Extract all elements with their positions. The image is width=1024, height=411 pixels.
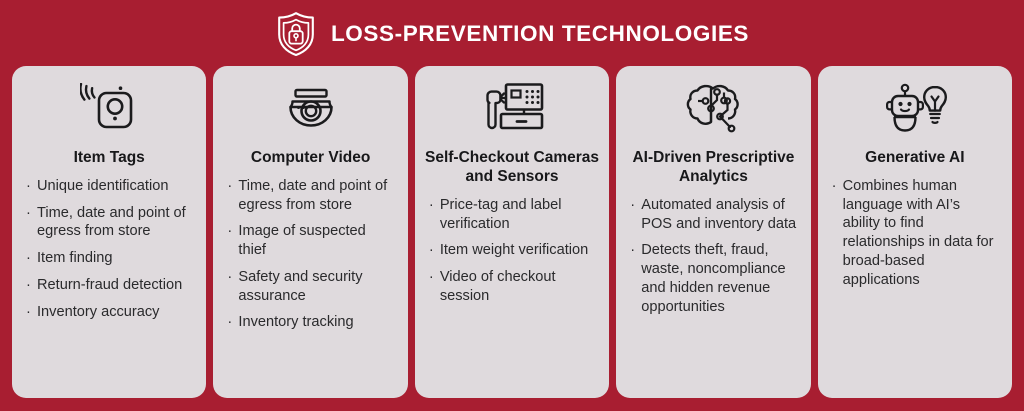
- card-self-checkout[interactable]: Self-Checkout Cameras and Sensors ·Price…: [415, 66, 609, 398]
- infographic-root: LOSS-PREVENTION TECHNOLOGIES Item Tags ·…: [0, 0, 1024, 411]
- bullet-list: ·Price-tag and label verification ·Item …: [425, 196, 599, 386]
- list-item: ·Return-fraud detection: [26, 276, 194, 295]
- rfid-tag-icon: [80, 83, 138, 135]
- bullet-marker: ·: [630, 196, 635, 215]
- bullet-marker: ·: [26, 177, 31, 196]
- list-item-text: Inventory accuracy: [37, 304, 159, 320]
- bullet-marker: ·: [227, 177, 232, 196]
- list-item: ·Inventory tracking: [227, 313, 395, 332]
- list-item-text: Item weight verification: [440, 242, 588, 258]
- dome-camera-icon: [282, 85, 340, 133]
- card-ai-prescriptive-analytics[interactable]: AI-Driven Prescriptive Analytics ·Automa…: [616, 66, 810, 398]
- card-item-tags[interactable]: Item Tags ·Unique identification ·Time, …: [12, 66, 206, 398]
- list-item: ·Image of suspected thief: [227, 222, 395, 260]
- bullet-marker: ·: [227, 268, 232, 287]
- list-item: ·Inventory accuracy: [26, 303, 194, 322]
- card-title: Generative AI: [828, 149, 1002, 168]
- list-item-text: Inventory tracking: [238, 314, 353, 330]
- list-item: ·Item weight verification: [429, 241, 597, 260]
- list-item: ·Safety and security assurance: [227, 268, 395, 306]
- card-icon-wrap: [626, 76, 800, 142]
- bullet-marker: ·: [832, 177, 837, 196]
- list-item-text: Detects theft, fraud, waste, noncomplian…: [641, 242, 785, 314]
- list-item-text: Item finding: [37, 250, 112, 266]
- list-item-text: Combines human language with AI’s abilit…: [843, 178, 994, 288]
- card-title: Self-Checkout Cameras and Sensors: [425, 149, 599, 187]
- bullet-marker: ·: [227, 313, 232, 332]
- card-icon-wrap: [22, 76, 196, 142]
- bullet-marker: ·: [630, 241, 635, 260]
- robot-lightbulb-icon: [883, 83, 947, 135]
- bullet-list: ·Automated analysis of POS and inventory…: [626, 196, 800, 386]
- card-icon-wrap: [223, 76, 397, 142]
- card-title: AI-Driven Prescriptive Analytics: [626, 149, 800, 187]
- list-item: ·Price-tag and label verification: [429, 196, 597, 234]
- card-title: Item Tags: [22, 149, 196, 168]
- list-item-text: Price-tag and label verification: [440, 197, 562, 232]
- bullet-marker: ·: [26, 303, 31, 322]
- card-computer-video[interactable]: Computer Video ·Time, date and point of …: [213, 66, 407, 398]
- list-item: ·Item finding: [26, 249, 194, 268]
- card-generative-ai[interactable]: Generative AI ·Combines human language w…: [818, 66, 1012, 398]
- header-banner: LOSS-PREVENTION TECHNOLOGIES: [0, 0, 1024, 66]
- card-icon-wrap: [425, 76, 599, 142]
- list-item-text: Image of suspected thief: [238, 223, 365, 258]
- list-item-text: Automated analysis of POS and inventory …: [641, 197, 796, 232]
- list-item: ·Combines human language with AI’s abili…: [832, 177, 1000, 290]
- bullet-list: ·Combines human language with AI’s abili…: [828, 177, 1002, 386]
- list-item-text: Return-fraud detection: [37, 277, 182, 293]
- bullet-marker: ·: [26, 204, 31, 223]
- list-item: ·Automated analysis of POS and inventory…: [630, 196, 798, 234]
- bullet-list: ·Time, date and point of egress from sto…: [223, 177, 397, 386]
- circuit-brain-icon: [684, 82, 742, 136]
- bullet-list: ·Unique identification ·Time, date and p…: [22, 177, 196, 386]
- cards-row: Item Tags ·Unique identification ·Time, …: [0, 66, 1024, 411]
- bullet-marker: ·: [429, 196, 434, 215]
- list-item-text: Safety and security assurance: [238, 269, 362, 304]
- list-item: ·Unique identification: [26, 177, 194, 196]
- list-item-text: Time, date and point of egress from stor…: [238, 178, 387, 213]
- card-title: Computer Video: [223, 149, 397, 168]
- list-item-text: Video of checkout session: [440, 269, 556, 304]
- bullet-marker: ·: [429, 241, 434, 260]
- list-item: ·Time, date and point of egress from sto…: [26, 204, 194, 242]
- list-item-text: Unique identification: [37, 178, 168, 194]
- bullet-marker: ·: [429, 268, 434, 287]
- bullet-marker: ·: [26, 276, 31, 295]
- card-icon-wrap: [828, 76, 1002, 142]
- bullet-marker: ·: [26, 249, 31, 268]
- page-title: LOSS-PREVENTION TECHNOLOGIES: [331, 23, 749, 46]
- list-item: ·Time, date and point of egress from sto…: [227, 177, 395, 215]
- list-item-text: Time, date and point of egress from stor…: [37, 205, 186, 240]
- list-item: ·Detects theft, fraud, waste, noncomplia…: [630, 241, 798, 316]
- pos-terminal-scanner-icon: [479, 82, 545, 136]
- bullet-marker: ·: [227, 222, 232, 241]
- shield-lock-icon: [275, 11, 317, 57]
- list-item: ·Video of checkout session: [429, 268, 597, 306]
